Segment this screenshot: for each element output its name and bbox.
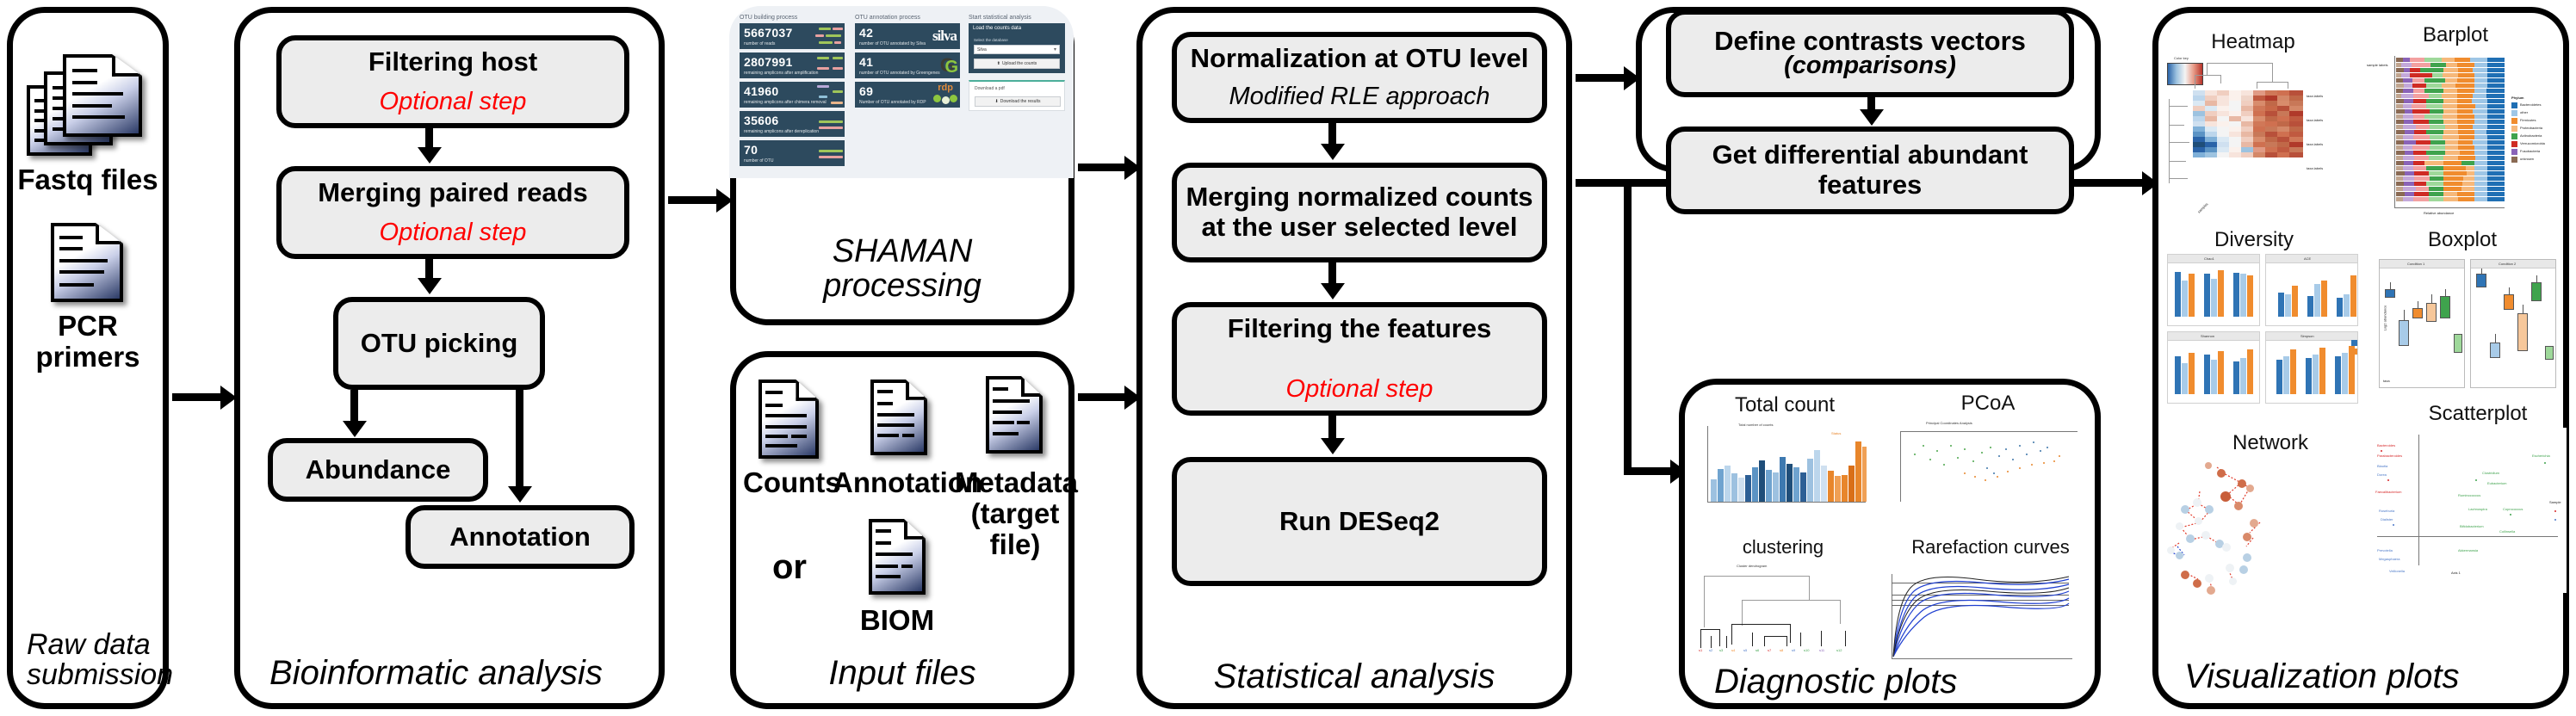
shaman-otu-card-3: 41960 remaining amplicons after chimera … <box>740 82 845 108</box>
metadata-file-icon <box>986 376 1043 454</box>
step-otu-picking[interactable]: OTU picking <box>333 297 545 390</box>
total-count-subtitle: Total number of counts <box>1738 423 1773 427</box>
step-abundance-title: Abundance <box>282 455 474 485</box>
plot-title-clustering: clustering <box>1697 536 1869 559</box>
thumb-boxplot: Condition 1 taxa Condition 2 <box>2372 256 2561 409</box>
step-merging-normalized-counts-title: Merging normalized countsat the user sel… <box>1186 182 1533 242</box>
fastq-file-doc-1 <box>63 54 142 137</box>
panel-caption-bioinformatic: Bioinformatic analysis <box>240 655 659 691</box>
shaman-otu-card-3-value: 41960 <box>744 84 778 98</box>
step-filtering-host-optional: Optional step <box>290 89 616 116</box>
step-filtering-features-title: Filtering the features <box>1186 314 1533 344</box>
metadata-file-label-line1: Metadata <box>955 467 1075 498</box>
panel-statistical-analysis: Normalization at OTU level Modified RLE … <box>1136 7 1572 709</box>
diversity-legend-swatch-1 <box>2351 340 2357 346</box>
arrow-normalization-to-merging <box>1328 123 1336 145</box>
shaman-col3-header: Start statistical analysis <box>969 15 1031 21</box>
step-get-differential-abundant-features[interactable]: Get differential abundantfeatures <box>1666 127 2074 214</box>
panel-input-files: Counts Annotation Metadata (target file)… <box>730 351 1074 709</box>
shaman-caption-line2: processing <box>823 268 981 304</box>
arrow-otu-to-abundance <box>350 390 358 423</box>
shaman-select-database-value: Silva <box>977 47 987 52</box>
step-get-differential-abundant-features-title: Get differential abundantfeatures <box>1680 140 2060 200</box>
chevron-down-icon: ▾ <box>1054 46 1056 52</box>
step-filtering-features-optional: Optional step <box>1186 376 1533 404</box>
thumb-rarefaction <box>1879 562 2086 672</box>
step-run-deseq2[interactable]: Run DESeq2 <box>1172 457 1547 586</box>
shaman-annotation-card-silva: 42 number of OTU annotated by Silva silv… <box>855 23 960 49</box>
shaman-otu-card-5-value: 70 <box>744 143 758 157</box>
step-merging-paired-reads-optional: Optional step <box>290 219 616 247</box>
step-normalization-otu[interactable]: Normalization at OTU level Modified RLE … <box>1172 32 1547 123</box>
upload-icon: ⬆ <box>997 61 1000 66</box>
pcr-primers-label-line2: primers <box>13 342 163 373</box>
step-otu-picking-title: OTU picking <box>347 329 531 359</box>
step-filtering-host[interactable]: Filtering host Optional step <box>276 35 629 128</box>
heatmap-grid <box>2193 90 2303 201</box>
shaman-download-results-button[interactable]: ⬇ Download the results <box>975 96 1061 107</box>
arrow-contrasts-to-differential <box>1867 97 1875 111</box>
step-define-contrasts-vectors[interactable]: Define contrasts vectors (comparisons) <box>1666 9 2074 97</box>
panel-contrasts: Define contrasts vectors (comparisons) G… <box>1636 7 2101 172</box>
step-merging-paired-reads-title: Merging paired reads <box>290 178 616 208</box>
pcoa-subtitle: Principal Coordinates Analysis <box>1926 421 1972 425</box>
plot-title-network: Network <box>2193 431 2348 455</box>
step-annotation[interactable]: Annotation <box>406 505 635 569</box>
shaman-otu-card-4-value: 35606 <box>744 114 778 127</box>
rdp-logo-icon: rdp <box>938 83 953 93</box>
panel-shaman-processing: OTU building process OTU annotation proc… <box>730 7 1074 325</box>
pcr-primers-icon <box>51 223 123 302</box>
shaman-select-database[interactable]: Silva ▾ <box>974 45 1060 54</box>
shaman-otu-card-1-value: 5667037 <box>744 26 793 40</box>
panel-visualization-plots: Heatmap Color key <box>2152 7 2569 709</box>
arrow-inputfiles-to-statistical <box>1078 393 1126 401</box>
shaman-download-results-label: Download the results <box>1000 99 1041 104</box>
shaman-otu-card-2-value: 2807991 <box>744 55 793 69</box>
plot-title-rarefaction: Rarefaction curves <box>1883 536 2098 559</box>
shaman-annotation-card-rdp: 69 Number of OTU annotated by RDP rdp <box>855 82 960 108</box>
step-filtering-host-title: Filtering host <box>290 47 616 77</box>
download-icon: ⬇ <box>995 99 999 104</box>
rarefaction-curves-svg <box>1879 562 2086 672</box>
step-define-contrasts-vectors-sub: (comparisons) <box>1680 52 2060 80</box>
arrow-bioinformatic-to-shaman <box>668 196 718 204</box>
annotation-file-label: Annotation <box>833 467 965 498</box>
panel-caption-diagnostic: Diagnostic plots <box>1685 664 2095 700</box>
thumb-network <box>2167 457 2362 622</box>
arrow-otu-to-annotation <box>516 385 523 488</box>
shaman-otu-card-2-caption: remaining amplicons after amplification <box>744 71 818 76</box>
thumb-pcoa: Principal Coordinates Analysis <box>1878 419 2084 515</box>
shaman-caption-line1: SHAMAN <box>833 233 973 269</box>
thumb-clustering: s1 s2 s3 s4 s5 s6 s7 s8 s9 s10 s11 s12 C… <box>1692 562 1869 669</box>
heatmap-color-key <box>2167 63 2203 85</box>
diversity-legend-swatch-2 <box>2351 349 2357 355</box>
shaman-load-counts-title: Load the counts data <box>973 26 1021 31</box>
arrow-merging-to-otu <box>425 259 433 280</box>
arrow-filtering-to-merging <box>425 128 433 149</box>
greengenes-logo-accent: G <box>944 58 958 77</box>
shaman-annotation-card-rdp-value: 69 <box>859 84 873 98</box>
shaman-annotation-card-greengenes-caption: number of OTU annotated by Greengenes <box>859 71 940 76</box>
panel-diagnostic-plots: Total count <box>1679 379 2101 709</box>
panel-caption-raw-data: Raw data submission <box>13 630 163 691</box>
step-abundance[interactable]: Abundance <box>268 438 488 502</box>
shaman-annotation-card-silva-value: 42 <box>859 26 873 40</box>
shaman-otu-card-1-caption: number of reads <box>744 41 775 46</box>
raw-data-caption-line1: Raw data <box>27 628 151 661</box>
branch-statistical-vertical <box>1624 179 1632 475</box>
shaman-download-pdf-panel: Download a pdf ⬇ Download the results <box>969 80 1065 111</box>
or-label: or <box>755 548 824 586</box>
pcr-primers-label-line1: PCR <box>13 311 163 342</box>
barplot-stacked-rows <box>2396 58 2505 206</box>
step-normalization-otu-title: Normalization at OTU level <box>1186 44 1533 74</box>
thumb-barplot: Phylum Bacteroidetes other Firmicutes Pr… <box>2363 51 2563 223</box>
shaman-otu-card-4-caption: remaining amplicons after dereplication <box>744 129 819 134</box>
plot-title-boxplot: Boxplot <box>2381 228 2544 252</box>
shaman-upload-counts-button[interactable]: ⬆ Upload the counts <box>974 59 1060 69</box>
arrow-statistical-to-diagnostic <box>1624 467 1672 475</box>
workflow-diagram: Fastq files PCR primers Raw data submiss… <box>0 0 2576 716</box>
shaman-annotation-card-rdp-caption: Number of OTU annotated by RDP <box>859 100 926 105</box>
shaman-otu-card-5-caption: number of OTU <box>744 158 773 164</box>
metadata-file-label-line2: (target file) <box>955 498 1075 561</box>
shaman-otu-card-4: 35606 remaining amplicons after dereplic… <box>740 111 845 137</box>
panel-caption-shaman: SHAMAN processing <box>736 235 1068 304</box>
counts-file-label: Counts <box>743 467 836 498</box>
step-merging-paired-reads[interactable]: Merging paired reads Optional step <box>276 166 629 259</box>
network-edges-svg <box>2167 457 2362 622</box>
total-count-legend: Status <box>1831 431 1841 435</box>
thumb-heatmap: Color key <box>2165 52 2363 219</box>
panel-caption-input-files: Input files <box>736 655 1068 691</box>
clustering-subtitle: Cluster dendrogram <box>1737 564 1767 568</box>
step-run-deseq2-title: Run DESeq2 <box>1186 507 1533 537</box>
plot-title-heatmap: Heatmap <box>2176 30 2331 54</box>
step-normalization-otu-sub: Modified RLE approach <box>1186 83 1533 111</box>
annotation-file-icon <box>870 380 927 455</box>
panel-raw-data: Fastq files PCR primers Raw data submiss… <box>7 7 169 709</box>
plot-title-total-count: Total count <box>1699 393 1871 417</box>
shaman-upload-counts-label: Upload the counts <box>1002 61 1037 66</box>
branch-statistical-horizontal-top <box>1576 179 1627 187</box>
shaman-col2-header: OTU annotation process <box>855 15 920 21</box>
shaman-otu-card-1: 5667037 number of reads <box>740 23 845 49</box>
fastq-files-icon-group <box>27 54 161 156</box>
plot-title-pcoa: PCoA <box>1885 392 2091 416</box>
arrow-shaman-to-statistical <box>1078 164 1126 171</box>
shaman-otu-card-3-caption: remaining amplicons after chimera remova… <box>744 100 827 105</box>
arrow-trunk-to-visualization <box>2092 179 2144 187</box>
arrow-rawdata-to-bioinformatic <box>172 393 222 401</box>
shaman-load-counts-panel: Load the counts data Select the database… <box>969 23 1065 73</box>
thumb-total-count: Status Total number of counts <box>1694 421 1869 514</box>
shaman-select-database-label: Select the database <box>974 38 1008 42</box>
arrow-statistical-to-contrasts <box>1576 74 1625 82</box>
shaman-col1-header: OTU building process <box>740 15 797 21</box>
thumb-scatterplot: Bacteroides Parabacteroides Blautia Dore… <box>2372 428 2567 593</box>
step-filtering-features[interactable]: Filtering the features Optional step <box>1172 302 1547 416</box>
shaman-screenshot: OTU building process OTU annotation proc… <box>729 6 1074 178</box>
counts-file-icon <box>759 380 819 459</box>
biom-file-label: BIOM <box>841 605 953 636</box>
silva-logo-icon: silva <box>932 28 957 45</box>
arrow-merging-to-filtering <box>1328 262 1336 285</box>
step-annotation-title: Annotation <box>419 522 621 552</box>
arrow-filtering-to-deseq2 <box>1328 416 1336 440</box>
thumb-diversity: Chao1 ACE <box>2167 254 2362 409</box>
raw-data-caption-line2: submission <box>27 658 173 691</box>
shaman-annotation-card-silva-caption: number of OTU annotated by Silva <box>859 41 926 46</box>
fastq-files-label: Fastq files <box>13 164 163 195</box>
shaman-annotation-card-greengenes: 41 number of OTU annotated by Greengenes… <box>855 52 960 78</box>
plot-title-diversity: Diversity <box>2172 228 2336 252</box>
panel-caption-visualization: Visualization plots <box>2158 658 2563 694</box>
biom-file-icon <box>869 519 926 595</box>
plot-title-barplot: Barplot <box>2382 23 2529 47</box>
panel-bioinformatic-analysis: Filtering host Optional step Merging pai… <box>234 7 665 709</box>
step-merging-normalized-counts[interactable]: Merging normalized countsat the user sel… <box>1172 163 1547 262</box>
shaman-download-pdf-title: Download a pdf <box>975 86 1005 91</box>
shaman-annotation-card-greengenes-value: 41 <box>859 55 873 69</box>
panel-caption-statistical: Statistical analysis <box>1142 658 1566 694</box>
shaman-otu-card-2: 2807991 remaining amplicons after amplif… <box>740 52 845 78</box>
plot-title-scatterplot: Scatterplot <box>2396 402 2560 426</box>
shaman-otu-card-5: 70 number of OTU <box>740 140 845 166</box>
